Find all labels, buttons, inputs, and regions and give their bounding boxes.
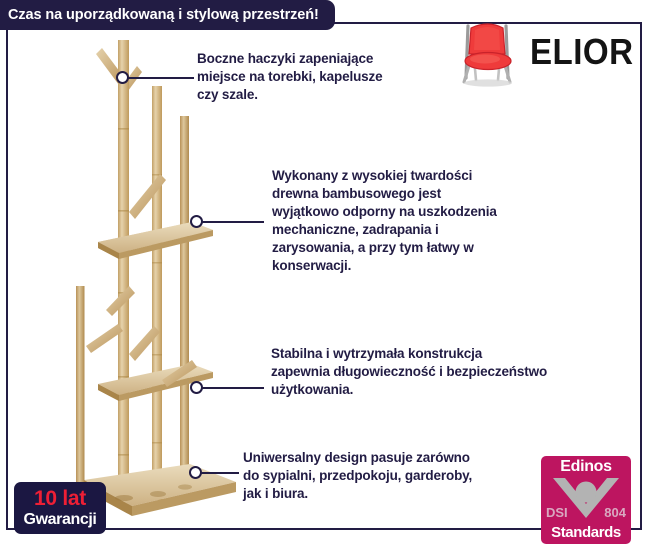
callout-leader-usage (201, 472, 239, 474)
edinos-code-left: DSI (546, 505, 568, 520)
red-chair-icon (452, 16, 524, 88)
warranty-label: Gwarancji (24, 511, 97, 529)
edinos-code-right: 804 (604, 505, 626, 520)
edinos-brand: Edinos (541, 458, 631, 476)
callout-line: wyjątkowo odporny na uszkodzenia (272, 203, 572, 221)
callout-leader-stability (202, 387, 264, 389)
callout-line: Stabilna i wytrzymała konstrukcja (271, 345, 591, 363)
callout-line: drewna bambusowego jest (272, 185, 572, 203)
warranty-badge: 10 lat Gwarancji (14, 482, 106, 534)
warranty-years: 10 lat (34, 488, 86, 509)
callout-text-hooks: Boczne haczyki zapeniające miejsce na to… (197, 50, 467, 104)
callout-line: czy szale. (197, 86, 467, 104)
callout-text-usage: Uniwersalny design pasuje zarówno do syp… (243, 449, 563, 503)
edinos-standards-badge: Edinos DSI 804 Standards (541, 456, 631, 544)
callout-line: zarysowania, a przy tym łatwy w (272, 239, 572, 257)
callout-line: Boczne haczyki zapeniające (197, 50, 467, 68)
edinos-standards-label: Standards (541, 524, 631, 541)
callout-line: Uniwersalny design pasuje zarówno (243, 449, 563, 467)
callout-line: użytkowania. (271, 381, 591, 399)
callout-line: Wykonany z wysokiej twardości (272, 167, 572, 185)
callout-leader-material (202, 221, 264, 223)
callout-line: jak i biura. (243, 485, 563, 503)
header-banner-text: Czas na uporządkowaną i stylową przestrz… (8, 7, 319, 23)
callout-line: zapewnia długowieczność i bezpieczeństwo (271, 363, 591, 381)
header-banner: Czas na uporządkowaną i stylową przestrz… (0, 0, 335, 30)
callout-line: konserwacji. (272, 257, 572, 275)
callout-leader-hooks (128, 77, 194, 79)
callout-line: do sypialni, przedpokoju, garderoby, (243, 467, 563, 485)
callout-text-stability: Stabilna i wytrzymała konstrukcja zapewn… (271, 345, 591, 399)
brand-name: ELIOR (530, 31, 634, 73)
infographic-root: Czas na uporządkowaną i stylową przestrz… (0, 0, 650, 550)
callout-line: miejsce na torebki, kapelusze (197, 68, 467, 86)
brand-logo: ELIOR (452, 16, 632, 88)
callout-line: mechaniczne, zadrapania i (272, 221, 572, 239)
callout-text-material: Wykonany z wysokiej twardości drewna bam… (272, 167, 572, 275)
